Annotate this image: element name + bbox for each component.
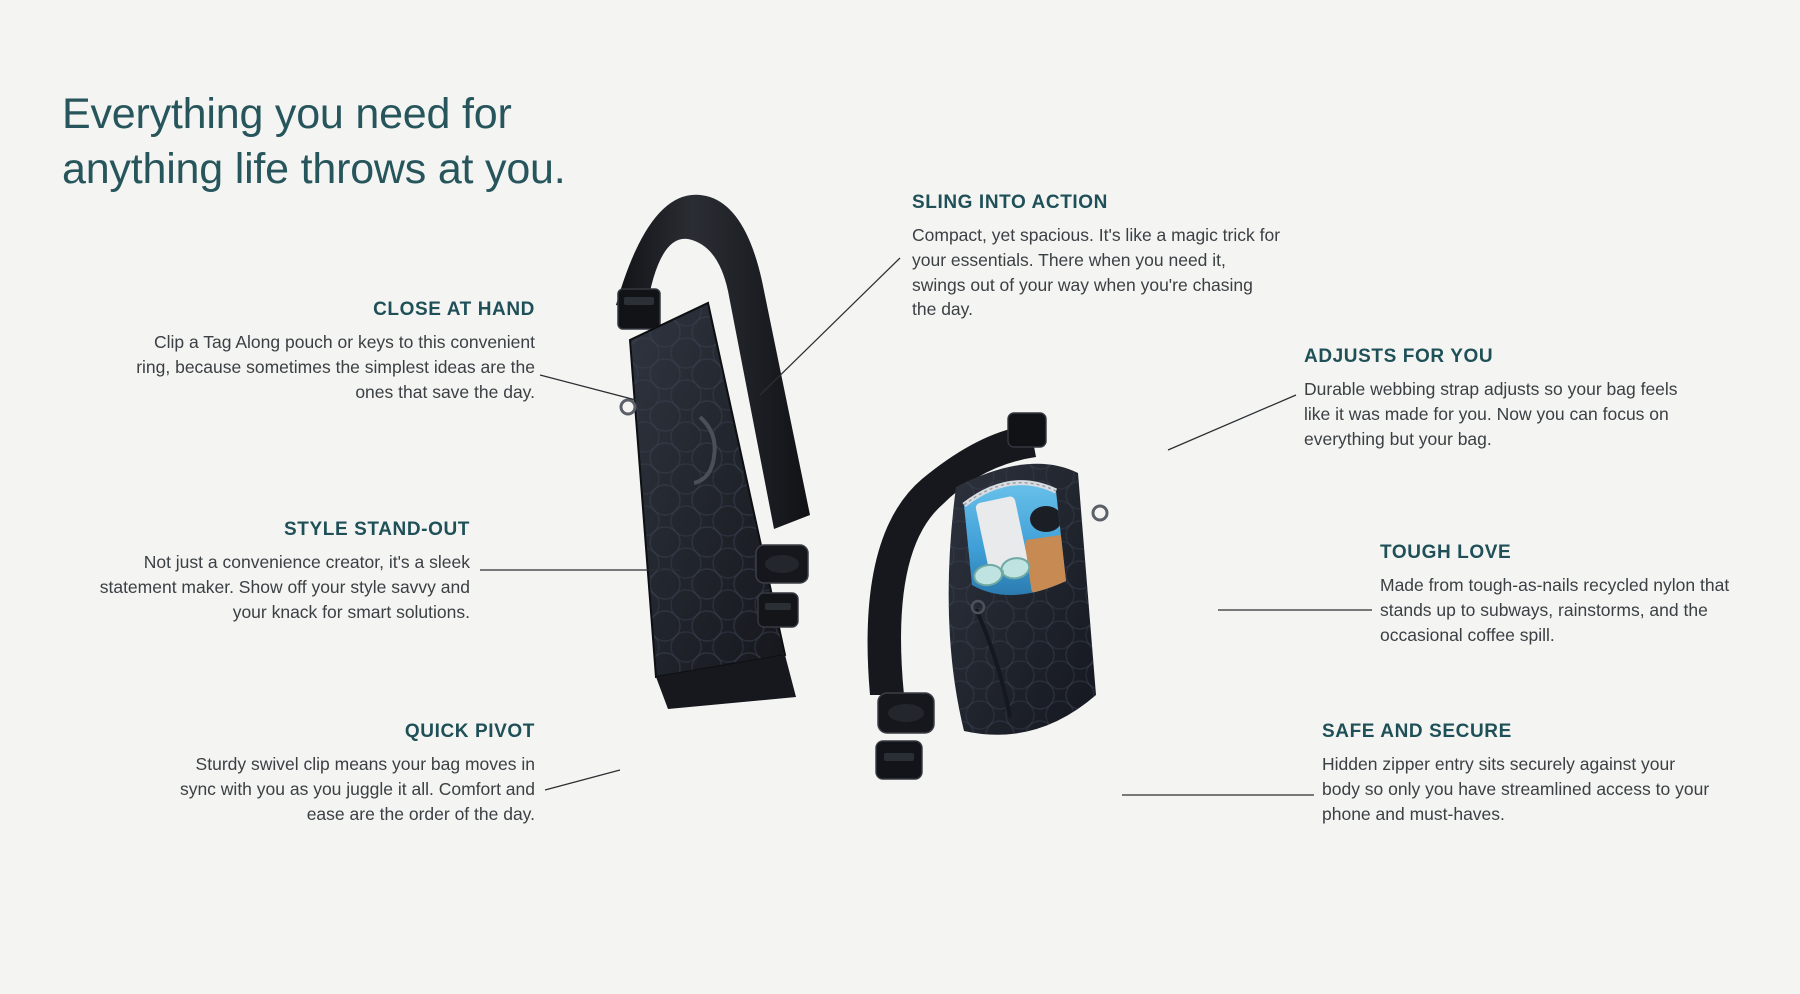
callout-close-at-hand: CLOSE AT HAND Clip a Tag Along pouch or … xyxy=(130,300,535,404)
callout-title: TOUGH LOVE xyxy=(1380,543,1765,564)
callout-body: Durable webbing strap adjusts so your ba… xyxy=(1304,377,1694,452)
strap-adjuster-hardware xyxy=(1008,413,1046,447)
callout-body: Compact, yet spacious. It's like a magic… xyxy=(912,223,1282,322)
callout-sling-into-action: SLING INTO ACTION Compact, yet spacious.… xyxy=(912,193,1282,322)
callout-title: QUICK PIVOT xyxy=(155,722,535,743)
product-image-sling-bag-open xyxy=(860,395,1260,875)
callout-safe-and-secure: SAFE AND SECURE Hidden zipper entry sits… xyxy=(1322,722,1712,826)
callout-body: Sturdy swivel clip means your bag moves … xyxy=(155,752,535,827)
strap-slider-hardware xyxy=(618,289,660,329)
callout-tough-love: TOUGH LOVE Made from tough-as-nails recy… xyxy=(1380,543,1765,647)
callout-body: Not just a convenience creator, it's a s… xyxy=(95,550,470,625)
callout-title: SAFE AND SECURE xyxy=(1322,722,1712,743)
callout-title: STYLE STAND-OUT xyxy=(95,520,470,541)
callout-title: ADJUSTS FOR YOU xyxy=(1304,347,1694,368)
infographic-canvas: Everything you need for anything life th… xyxy=(0,0,1800,994)
d-ring-hardware xyxy=(1093,506,1107,520)
callout-body: Made from tough-as-nails recycled nylon … xyxy=(1380,573,1765,648)
callout-body: Clip a Tag Along pouch or keys to this c… xyxy=(130,330,535,405)
contents-keys xyxy=(1030,506,1062,532)
callout-title: SLING INTO ACTION xyxy=(912,193,1282,214)
callout-title: CLOSE AT HAND xyxy=(130,300,535,321)
callout-adjusts-for-you: ADJUSTS FOR YOU Durable webbing strap ad… xyxy=(1304,347,1694,451)
page-title: Everything you need for anything life th… xyxy=(62,87,566,198)
callout-style-stand-out: STYLE STAND-OUT Not just a convenience c… xyxy=(95,520,470,624)
d-ring-hardware xyxy=(621,400,635,414)
callout-body: Hidden zipper entry sits securely agains… xyxy=(1322,752,1712,827)
callout-quick-pivot: QUICK PIVOT Sturdy swivel clip means you… xyxy=(155,722,535,826)
